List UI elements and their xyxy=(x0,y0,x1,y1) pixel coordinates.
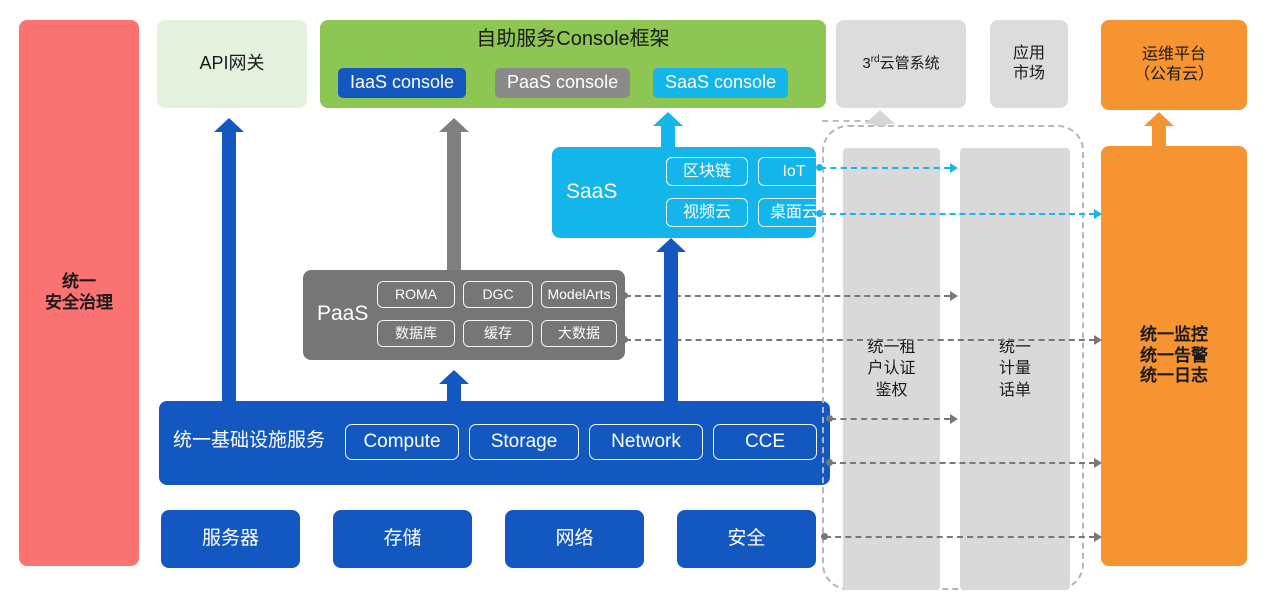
third-party-cloud-mgmt-box: 3rd云管系统 xyxy=(836,20,966,108)
paas-layer-box: PaaS ROMA DGC ModelArts 数据库 缓存 大数据 xyxy=(303,270,625,360)
iaas-item-cce[interactable]: CCE xyxy=(713,424,817,460)
unified-metering-label: 统一 计量 话单 xyxy=(999,337,1031,402)
api-gateway-box: API网关 xyxy=(157,20,307,108)
connector-paas-to-ops xyxy=(625,339,1095,341)
unified-tenant-auth-label: 统一租 户认证 鉴权 xyxy=(867,337,915,402)
arrow-head-icon xyxy=(1144,112,1174,126)
paas-layer-label: PaaS xyxy=(317,301,368,327)
iaas-layer-label: 统一基础设施服务 xyxy=(173,429,325,452)
arrow-shaft xyxy=(873,123,887,126)
paas-item-bigdata[interactable]: 大数据 xyxy=(541,320,617,347)
iaas-item-storage[interactable]: Storage xyxy=(469,424,579,460)
security-governance-pillar: 统一 安全治理 xyxy=(19,20,139,566)
ops-monitoring-pillar: 统一监控 统一告警 统一日志 xyxy=(1101,146,1247,566)
paas-item-cache[interactable]: 缓存 xyxy=(463,320,533,347)
ops-monitoring-label: 统一监控 统一告警 统一日志 xyxy=(1140,325,1208,387)
paas-item-roma[interactable]: ROMA xyxy=(377,281,455,308)
paas-item-database[interactable]: 数据库 xyxy=(377,320,455,347)
arrow-shaft xyxy=(664,251,678,401)
arrow-head-icon xyxy=(439,370,469,384)
third-party-suffix: 云管系统 xyxy=(880,55,940,72)
hardware-server-box: 服务器 xyxy=(161,510,300,568)
connector-saas-to-auth xyxy=(820,167,950,169)
console-framework-title: 自助服务Console框架 xyxy=(320,27,826,51)
arrow-head-icon xyxy=(865,110,895,124)
ops-platform-label: 运维平台 （公有云） xyxy=(1134,45,1214,84)
connector-arrow-paas-ops xyxy=(1094,335,1102,345)
third-party-prefix: 3 xyxy=(862,55,870,72)
security-governance-label: 统一 安全治理 xyxy=(45,272,113,313)
saas-item-blockchain[interactable]: 区块链 xyxy=(666,157,748,186)
ops-platform-box: 运维平台 （公有云） xyxy=(1101,20,1247,110)
iaas-layer-box: 统一基础设施服务 Compute Storage Network CCE xyxy=(159,401,830,485)
hardware-storage-box: 存储 xyxy=(333,510,472,568)
paas-item-modelarts[interactable]: ModelArts xyxy=(541,281,617,308)
arrow-head-icon xyxy=(656,238,686,252)
hardware-network-box: 网络 xyxy=(505,510,644,568)
arrow-head-icon xyxy=(439,118,469,132)
third-party-ordinal-sup: rd xyxy=(871,54,880,65)
arrow-shaft xyxy=(1152,125,1166,147)
architecture-diagram: 统一 安全治理 API网关 自助服务Console框架 IaaS console… xyxy=(0,0,1265,605)
connector-iaas-to-ops xyxy=(830,462,1095,464)
connector-arrow-saas-ops xyxy=(1094,209,1102,219)
app-market-label: 应用 市场 xyxy=(1013,44,1045,83)
connector-arrow-hardware-ops xyxy=(1094,532,1102,542)
connector-arrow-iaas-ops xyxy=(1094,458,1102,468)
iaas-item-network[interactable]: Network xyxy=(589,424,703,460)
saas-item-video-cloud[interactable]: 视频云 xyxy=(666,198,748,227)
connector-arrow-iaas-auth xyxy=(950,414,958,424)
paas-console-chip[interactable]: PaaS console xyxy=(495,68,630,98)
saas-layer-box: SaaS 区块链 IoT 视频云 桌面云 xyxy=(552,147,816,238)
saas-console-chip[interactable]: SaaS console xyxy=(653,68,788,98)
paas-item-dgc[interactable]: DGC xyxy=(463,281,533,308)
connector-saas-to-ops xyxy=(820,213,1095,215)
connector-arrow-paas-auth xyxy=(950,291,958,301)
hardware-security-box: 安全 xyxy=(677,510,816,568)
iaas-console-chip[interactable]: IaaS console xyxy=(338,68,466,98)
arrow-shaft xyxy=(222,131,236,401)
app-market-box: 应用 市场 xyxy=(990,20,1068,108)
connector-arrow-saas-auth xyxy=(950,163,958,173)
arrow-shaft xyxy=(447,131,461,270)
connector-iaas-to-auth xyxy=(830,418,950,420)
arrow-shaft xyxy=(661,125,675,147)
arrow-head-icon xyxy=(653,112,683,126)
arrow-shaft xyxy=(447,383,461,401)
saas-layer-label: SaaS xyxy=(566,179,617,205)
iaas-item-compute[interactable]: Compute xyxy=(345,424,459,460)
console-framework-box: 自助服务Console框架 IaaS console PaaS console … xyxy=(320,20,826,108)
third-party-cloud-mgmt-label: 3rd云管系统 xyxy=(862,54,939,73)
connector-hardware-to-ops xyxy=(825,536,1095,538)
saas-item-iot[interactable]: IoT xyxy=(758,157,830,186)
api-gateway-label: API网关 xyxy=(199,53,264,75)
arrow-head-icon xyxy=(214,118,244,132)
